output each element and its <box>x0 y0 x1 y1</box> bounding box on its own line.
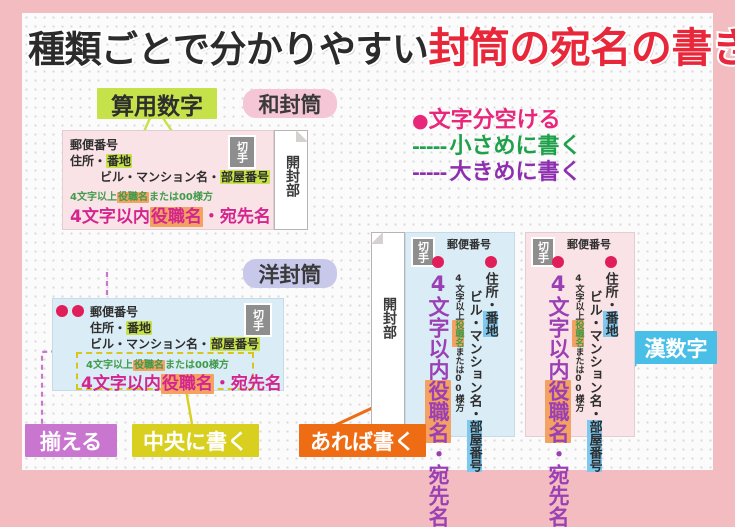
legend-marker-dash-large-icon: ----- <box>412 160 446 186</box>
envelope2-address: 住所・番地 <box>90 319 152 336</box>
envelope1-big-name: 宛先名 <box>220 207 271 227</box>
flap-corner-icon-2 <box>371 232 383 244</box>
legend-marker-dash-small-icon: ----- <box>412 134 446 160</box>
envelope1-banchi: 番地 <box>106 154 132 168</box>
envelope-vertical-pink: 切手 郵便番号 住所・番地 ビル・マンション名・部屋番号 4文字以上役職名または… <box>525 232 635 437</box>
envelope2-dot-2 <box>72 305 84 317</box>
envelope4-address-text: 住所 <box>603 272 618 298</box>
envelope1-building-text: ビル・マンション名 <box>100 170 208 184</box>
envelope2-room: 部屋番号 <box>210 337 260 351</box>
envelope2-sep-2: ・ <box>198 337 210 351</box>
envelope3-address-col: 住所・番地 <box>483 272 497 432</box>
envelope-vertical-blue-flap: 開封部 <box>371 232 405 437</box>
tag-arabic-numerals: 算用数字 <box>97 88 217 119</box>
envelope1-big-name-line: 4文字以内役職名・宛先名 <box>70 202 271 227</box>
envelope3-sep-2: ・ <box>467 407 482 420</box>
legend-marker-dot-icon: ● <box>412 108 429 134</box>
envelope3-stamp-label: 切手 <box>418 241 429 263</box>
envelope-japanese: 郵便番号 住所・番地 ビル・マンション名・部屋番号 4文字以上役職名または00様… <box>62 130 274 230</box>
envelope4-banchi: 番地 <box>603 311 618 337</box>
flap-corner-icon <box>296 130 308 142</box>
envelope2-banchi: 番地 <box>126 321 152 335</box>
envelope4-big-name: 宛先名 <box>546 464 570 527</box>
page-title: 種類ごとで分かりやすい封筒の宛名の書き方 <box>28 22 718 74</box>
envelope3-postal-code: 郵便番号 <box>447 236 491 252</box>
envelope1-building: ビル・マンション名・部屋番号 <box>100 168 270 185</box>
envelope4-small-prefix: 4文字以上 <box>573 274 583 320</box>
envelope3-big-title: 役職名 <box>425 380 451 443</box>
envelope2-stamp-box: 切手 <box>244 303 272 337</box>
envelope1-big-dot: ・ <box>203 207 220 227</box>
envelope3-small-col: 4文字以上役職名または00様方 <box>453 274 462 414</box>
envelope2-big-title: 役職名 <box>161 374 214 394</box>
envelope-western: 郵便番号 住所・番地 ビル・マンション名・部屋番号 4文字以上役職名または00様… <box>52 298 284 391</box>
envelope-vertical-blue-flap-label: 開封部 <box>380 283 396 353</box>
envelope2-address-text: 住所 <box>90 321 114 335</box>
envelope2-building-text: ビル・マンション名 <box>90 337 198 351</box>
envelope4-address-col: 住所・番地 <box>603 272 617 432</box>
envelope2-postal-code: 郵便番号 <box>90 303 138 320</box>
envelope4-small-title: 役職名 <box>572 320 584 347</box>
envelope4-dot-1 <box>552 256 564 268</box>
envelope4-room: 部屋番号 <box>587 420 602 472</box>
envelope4-stamp-label: 切手 <box>538 241 549 263</box>
tag-western-envelope-label: 洋封筒 <box>259 259 322 289</box>
envelope1-room: 部屋番号 <box>220 170 270 184</box>
envelope3-small-suffix: または00様方 <box>453 347 463 412</box>
tag-japanese-envelope-label: 和封筒 <box>259 89 322 119</box>
envelope3-room: 部屋番号 <box>467 420 482 472</box>
envelope1-big-prefix: 4文字以内 <box>70 207 150 227</box>
envelope4-big-dot: ・ <box>546 443 570 464</box>
legend-item-1: ----- 小さめに書く <box>412 134 581 160</box>
envelope1-postal-code-text: 郵便番号 <box>70 138 118 152</box>
envelope3-sep-1: ・ <box>483 298 498 311</box>
envelope1-small-title-line: 4文字以上役職名または00様方 <box>70 188 213 203</box>
envelope3-big-dot: ・ <box>426 443 450 464</box>
envelope4-big-title: 役職名 <box>545 380 571 443</box>
envelope3-banchi: 番地 <box>483 311 498 337</box>
legend-label-1: 小さめに書く <box>449 134 581 160</box>
envelope1-sep-2: ・ <box>208 170 220 184</box>
page-title-black: 種類ごとで分かりやすい <box>28 28 428 71</box>
tag-kanji-numerals: 漢数字 <box>635 331 717 364</box>
tag-write-if-exists: あれば書く <box>299 424 426 457</box>
envelope3-small-title: 役職名 <box>452 320 464 347</box>
envelope1-sep-1: ・ <box>94 154 106 168</box>
envelope4-sep-2: ・ <box>587 407 602 420</box>
tag-align: 揃える <box>25 424 117 457</box>
envelope1-stamp-box: 切手 <box>228 135 256 169</box>
tag-align-label: 揃える <box>40 426 102 456</box>
legend-item-2: ----- 大きめに書く <box>412 160 581 186</box>
legend-label-2: 大きめに書く <box>449 160 581 186</box>
envelope4-big-prefix: 4文字以内 <box>546 272 570 380</box>
legend-label-0: 文字分空ける <box>429 108 561 134</box>
envelope4-building-col: ビル・マンション名・部屋番号 <box>587 290 601 440</box>
envelope4-postal-code: 郵便番号 <box>567 236 611 252</box>
tag-arabic-numerals-label: 算用数字 <box>111 87 203 121</box>
envelope2-dot-1 <box>56 305 68 317</box>
envelope1-postal-code: 郵便番号 <box>70 136 118 153</box>
legend: ● 文字分空ける ----- 小さめに書く ----- 大きめに書く <box>412 108 581 186</box>
envelope3-big-col: 4文字以内役職名・宛先名 <box>427 272 449 442</box>
envelope3-postal-code-text: 郵便番号 <box>447 238 491 251</box>
envelope4-big-col: 4文字以内役職名・宛先名 <box>547 272 569 442</box>
envelope2-stamp-label: 切手 <box>253 309 264 331</box>
tag-write-if-exists-label: あれば書く <box>310 426 415 456</box>
envelope3-building-col: ビル・マンション名・部屋番号 <box>467 290 481 440</box>
envelope2-postal-code-text: 郵便番号 <box>90 305 138 319</box>
tag-kanji-numerals-label: 漢数字 <box>645 333 708 363</box>
envelope3-dot-1 <box>432 256 444 268</box>
tag-write-center: 中央に書く <box>132 424 259 457</box>
tag-write-center-label: 中央に書く <box>143 426 248 456</box>
envelope4-sep-1: ・ <box>603 298 618 311</box>
envelope3-big-name: 宛先名 <box>426 464 450 527</box>
envelope-vertical-blue: 切手 郵便番号 住所・番地 ビル・マンション名・部屋番号 4文字以上役職名または… <box>405 232 515 437</box>
envelope1-stamp-label: 切手 <box>237 141 248 163</box>
envelope1-address: 住所・番地 <box>70 152 132 169</box>
page-title-red: 封筒の宛名の書き方 <box>428 24 735 72</box>
envelope2-big-name-line: 4文字以内役職名・宛先名 <box>81 369 282 394</box>
envelope4-postal-code-text: 郵便番号 <box>567 238 611 251</box>
envelope-japanese-flap: 開封部 <box>274 130 308 230</box>
tag-japanese-envelope: 和封筒 <box>243 89 337 118</box>
envelope1-big-title: 役職名 <box>150 207 203 227</box>
envelope2-big-name: 宛先名 <box>231 374 282 394</box>
envelope3-big-prefix: 4文字以内 <box>426 272 450 380</box>
envelope3-small-prefix: 4文字以上 <box>453 274 463 320</box>
envelope4-dot-2 <box>605 256 617 268</box>
envelope1-address-text: 住所 <box>70 154 94 168</box>
tag-western-envelope: 洋封筒 <box>243 259 337 288</box>
envelope2-big-dot: ・ <box>214 374 231 394</box>
envelope-japanese-flap-label: 開封部 <box>283 141 299 211</box>
envelope3-building-text: ビル・マンション名 <box>467 290 482 407</box>
envelope2-sep-1: ・ <box>114 321 126 335</box>
envelope4-small-col: 4文字以上役職名または00様方 <box>573 274 582 414</box>
envelope3-address-text: 住所 <box>483 272 498 298</box>
legend-item-0: ● 文字分空ける <box>412 108 581 134</box>
infographic-root: 種類ごとで分かりやすい封筒の宛名の書き方 種類ごとで分かりやすい封筒の宛名の書き… <box>0 0 735 489</box>
envelope2-building: ビル・マンション名・部屋番号 <box>90 335 260 352</box>
envelope4-building-text: ビル・マンション名 <box>587 290 602 407</box>
envelope3-dot-2 <box>485 256 497 268</box>
envelope2-big-prefix: 4文字以内 <box>81 374 161 394</box>
envelope4-small-suffix: または00様方 <box>573 347 583 412</box>
